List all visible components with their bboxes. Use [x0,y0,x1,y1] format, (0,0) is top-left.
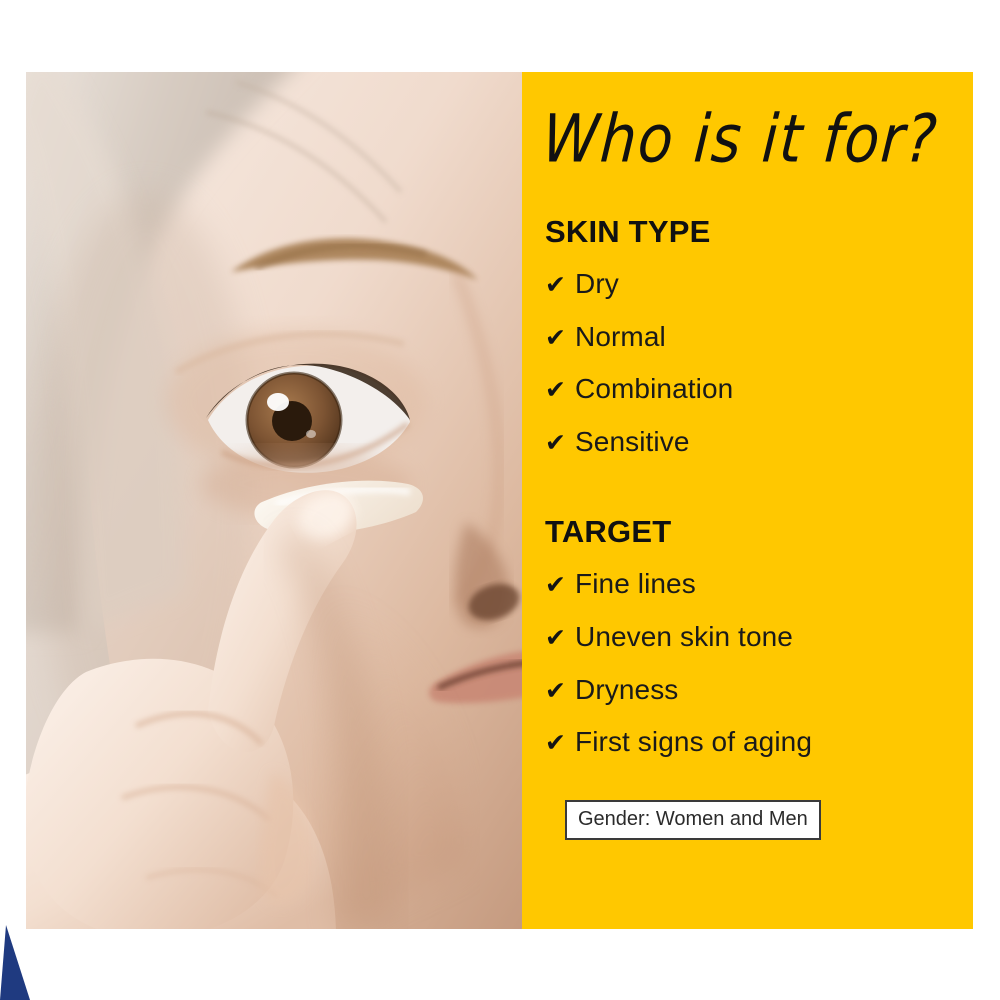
check-icon: ✔ [545,678,575,703]
list-item: ✔ Dryness [545,675,939,706]
check-icon: ✔ [545,625,575,650]
list-item: ✔ Combination [545,374,939,405]
navy-corner-wedge [0,925,40,1000]
poster-canvas: Who is it for? SKIN TYPE ✔ Dry ✔ Normal … [0,0,1000,1000]
list-item: ✔ Normal [545,322,939,353]
navy-wedge-shape [0,925,40,1000]
check-icon: ✔ [545,377,575,402]
product-photo [26,72,522,929]
list-item: ✔ Sensitive [545,427,939,458]
list-item-label: Combination [575,374,733,405]
list-item-label: First signs of aging [575,727,812,758]
list-item: ✔ Uneven skin tone [545,622,939,653]
info-panel: Who is it for? SKIN TYPE ✔ Dry ✔ Normal … [522,72,973,929]
check-icon: ✔ [545,325,575,350]
check-icon: ✔ [545,730,575,755]
page-title: Who is it for? [540,106,939,175]
gender-note-text: Gender: Women and Men [578,808,808,830]
list-item: ✔ Fine lines [545,569,939,600]
section-title-target: TARGET [545,514,939,550]
check-icon: ✔ [545,272,575,297]
list-item-label: Fine lines [575,569,696,600]
face-illustration [26,72,522,929]
gender-note-box: Gender: Women and Men [565,800,821,840]
check-icon: ✔ [545,572,575,597]
list-item: ✔ First signs of aging [545,727,939,758]
section-title-skin-type: SKIN TYPE [545,214,939,250]
list-item-label: Sensitive [575,427,690,458]
skin-type-list: ✔ Dry ✔ Normal ✔ Combination ✔ Sensitive [545,269,939,458]
check-icon: ✔ [545,430,575,455]
target-list: ✔ Fine lines ✔ Uneven skin tone ✔ Drynes… [545,569,939,758]
list-item: ✔ Dry [545,269,939,300]
list-item-label: Normal [575,322,666,353]
list-item-label: Dry [575,269,619,300]
list-item-label: Dryness [575,675,678,706]
list-item-label: Uneven skin tone [575,622,793,653]
